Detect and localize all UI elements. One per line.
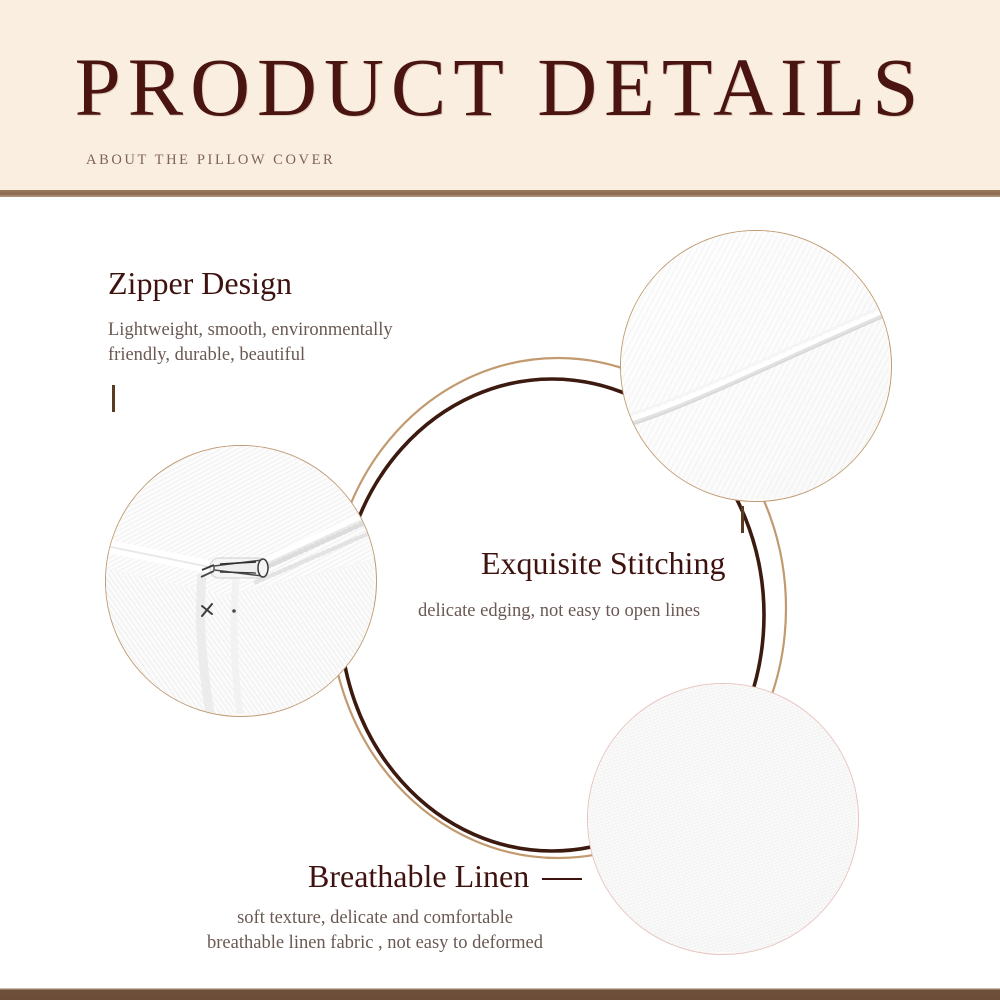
feature-body-breathable-linen: soft texture, delicate and comfortable b… [185,906,565,956]
feature-title-zipper-design: Zipper Design [108,267,292,299]
feature-body-line: soft texture, delicate and comfortable [185,906,565,931]
tick-marker-stitching [741,506,744,533]
photo-stitching-closeup [620,230,892,502]
footer-divider [0,988,1000,1000]
title-dash-rule [542,878,582,880]
product-details-infographic: PRODUCT DETAILS ABOUT THE PILLOW COVER [0,0,1000,1000]
feature-body-line: friendly, durable, beautiful [108,343,393,368]
photo-zipper-closeup [105,445,377,717]
header-banner: PRODUCT DETAILS ABOUT THE PILLOW COVER [0,0,1000,190]
feature-title-exquisite-stitching: Exquisite Stitching [481,547,725,579]
feature-body-line: delicate edging, not easy to open lines [418,599,700,624]
feature-body-line: breathable linen fabric , not easy to de… [185,931,565,956]
page-subtitle: ABOUT THE PILLOW COVER [86,152,335,169]
feature-body-exquisite-stitching: delicate edging, not easy to open lines [418,599,700,624]
feature-title-text: Breathable Linen [308,858,529,894]
feature-body-zipper-design: Lightweight, smooth, environmentally fri… [108,318,393,368]
photo-linen-closeup [587,683,859,955]
feature-title-breathable-linen: Breathable Linen [308,860,582,892]
feature-body-line: Lightweight, smooth, environmentally [108,318,393,343]
page-title: PRODUCT DETAILS [0,46,1000,129]
tick-marker-zipper [112,385,115,412]
